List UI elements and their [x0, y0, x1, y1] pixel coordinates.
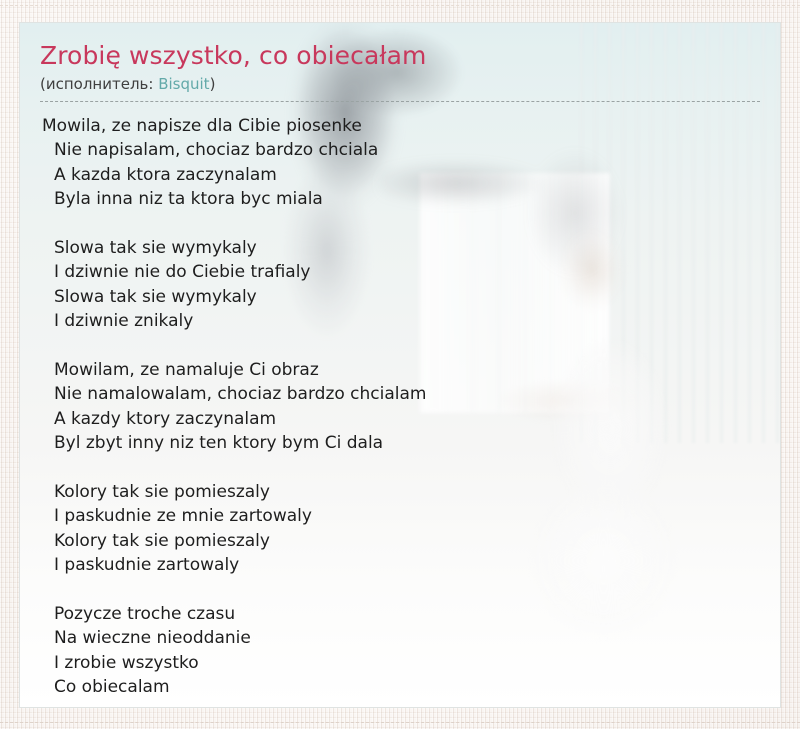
page-frame: Zrobię wszystko, co obiecałam (исполните… [0, 0, 800, 729]
lyric-line: Co obiecalam [40, 675, 760, 699]
lyric-line: Slowa tak sie wymykaly [40, 236, 760, 260]
lyric-line: I paskudnie ze mnie zartowaly [40, 504, 760, 528]
artist-link[interactable]: Bisquit [158, 75, 209, 93]
lyric-spacer [40, 212, 760, 236]
frame-bottom-rule [0, 722, 800, 723]
lyric-line: Byla inna niz ta ktora byc miala [40, 187, 760, 211]
lyric-spacer [40, 578, 760, 602]
artist-suffix-label: ) [210, 75, 216, 93]
lyrics-content: Zrobię wszystko, co obiecałam (исполните… [20, 23, 780, 700]
lyric-spacer [40, 456, 760, 480]
lyrics-card: Zrobię wszystko, co obiecałam (исполните… [19, 22, 781, 708]
lyric-line: Mowila, ze napisze dla Cibie piosenke [40, 114, 760, 138]
lyric-line: Mowilam, ze namaluje Ci obraz [40, 358, 760, 382]
frame-top-rule [0, 5, 800, 6]
lyric-line: Nie namalowalam, chociaz bardzo chcialam [40, 382, 760, 406]
lyric-line: I dziwnie znikaly [40, 309, 760, 333]
lyrics-body: Mowila, ze napisze dla Cibie piosenkeNie… [40, 102, 760, 700]
lyric-line: I zrobie wszystko [40, 651, 760, 675]
lyric-line: Kolory tak sie pomieszaly [40, 529, 760, 553]
lyric-spacer [40, 334, 760, 358]
lyric-line: Pozycze troche czasu [40, 602, 760, 626]
lyric-line: I dziwnie nie do Ciebie trafialy [40, 260, 760, 284]
lyric-line: A kazdy ktory zaczynalam [40, 407, 760, 431]
lyric-line: Byl zbyt inny niz ten ktory bym Ci dala [40, 431, 760, 455]
artist-line: (исполнитель: Bisquit) [40, 75, 760, 102]
lyric-line: Slowa tak sie wymykaly [40, 285, 760, 309]
page-title: Zrobię wszystko, co obiecałam [40, 41, 760, 71]
lyric-line: Na wieczne nieoddanie [40, 626, 760, 650]
lyric-line: Nie napisalam, chociaz bardzo chciala [40, 138, 760, 162]
lyric-line: Kolory tak sie pomieszaly [40, 480, 760, 504]
lyric-line: I paskudnie zartowaly [40, 553, 760, 577]
lyric-line: A kazda ktora zaczynalam [40, 163, 760, 187]
artist-prefix-label: (исполнитель: [40, 75, 158, 93]
